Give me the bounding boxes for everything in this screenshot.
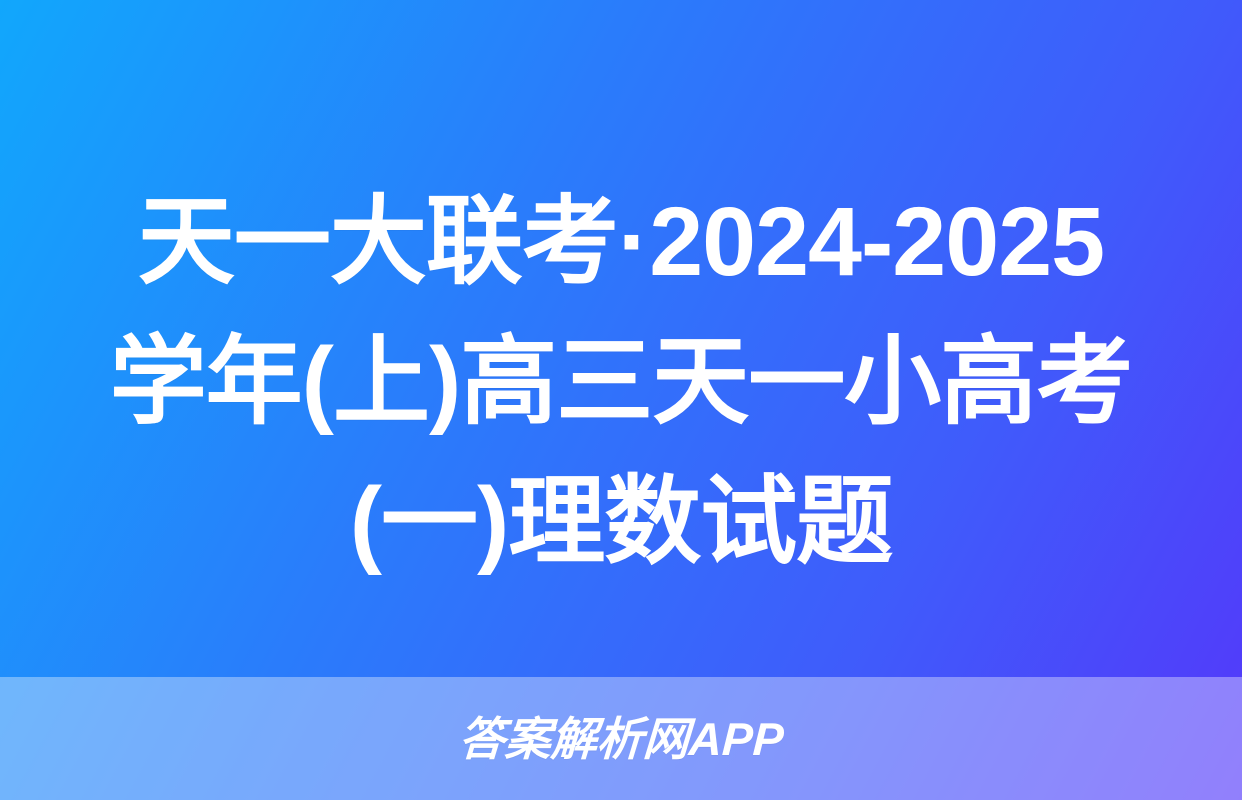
poster-card: 天一大联考·2024-2025 学年(上)高三天一小高考 (一)理数试题 答案解… <box>0 0 1242 800</box>
title-line-2: 学年(上)高三天一小高考 <box>62 312 1180 452</box>
page-title: 天一大联考·2024-2025 学年(上)高三天一小高考 (一)理数试题 <box>0 172 1242 592</box>
app-watermark-label: 答案解析网APP <box>457 716 784 762</box>
title-line-1: 天一大联考·2024-2025 <box>62 172 1180 312</box>
title-line-3: (一)理数试题 <box>62 452 1180 592</box>
footer-banner: 答案解析网APP <box>0 677 1242 800</box>
